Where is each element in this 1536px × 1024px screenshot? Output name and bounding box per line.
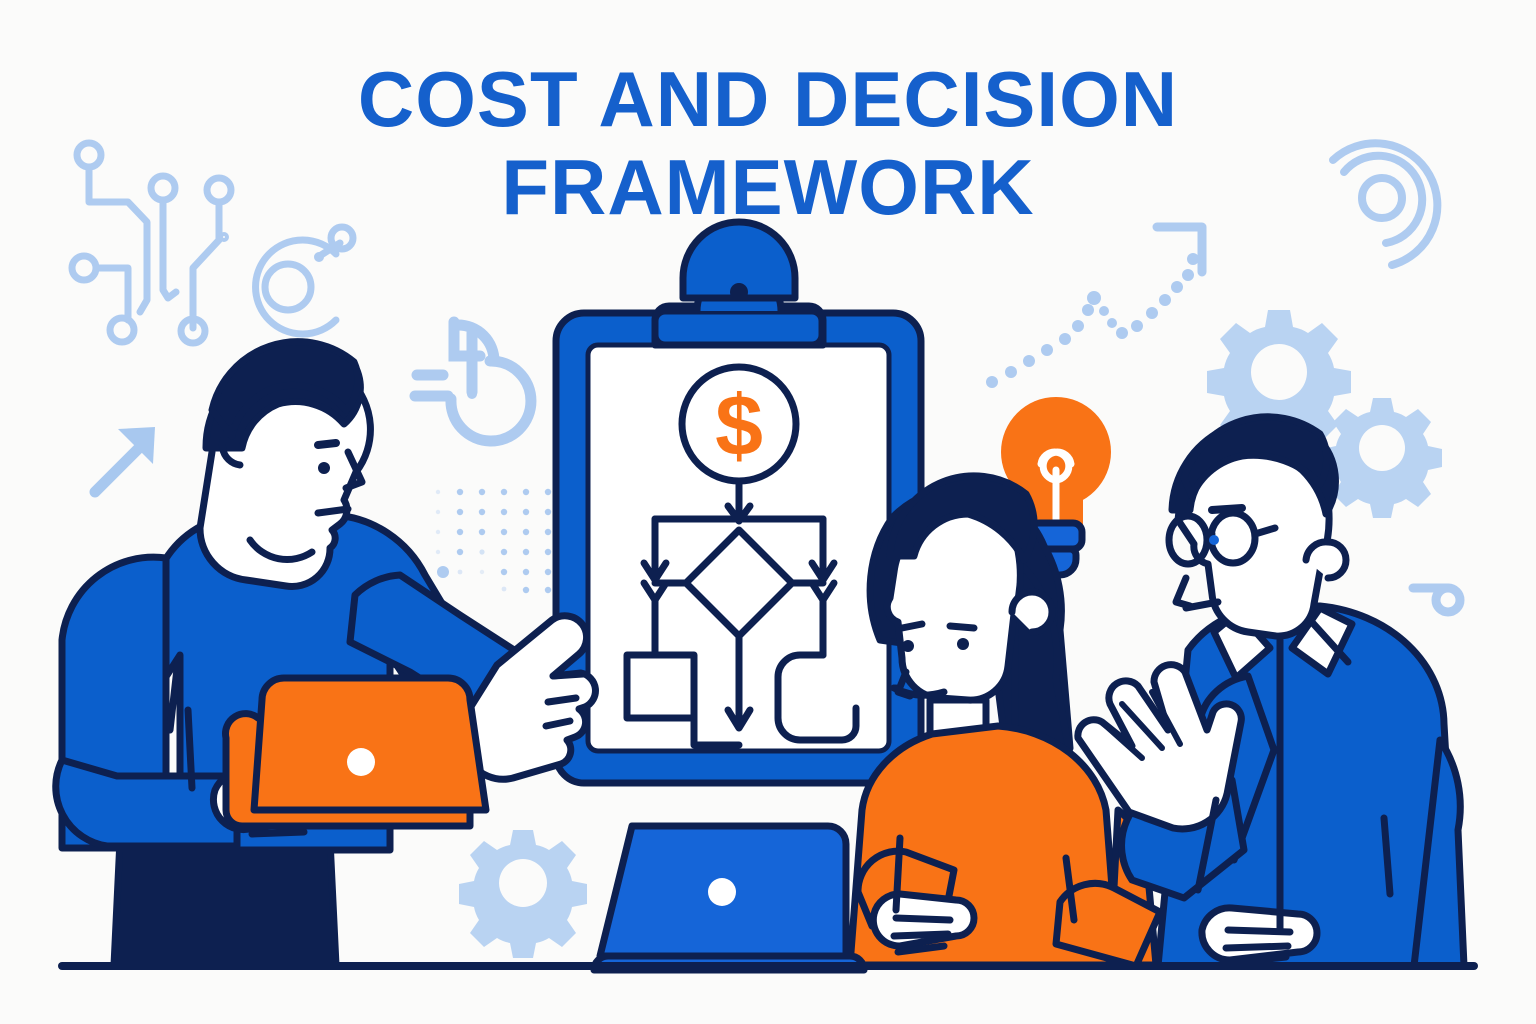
illustration-canvas: COST AND DECISION FRAMEWORK $ (0, 0, 1536, 1024)
desk-baseline (0, 0, 1536, 1024)
